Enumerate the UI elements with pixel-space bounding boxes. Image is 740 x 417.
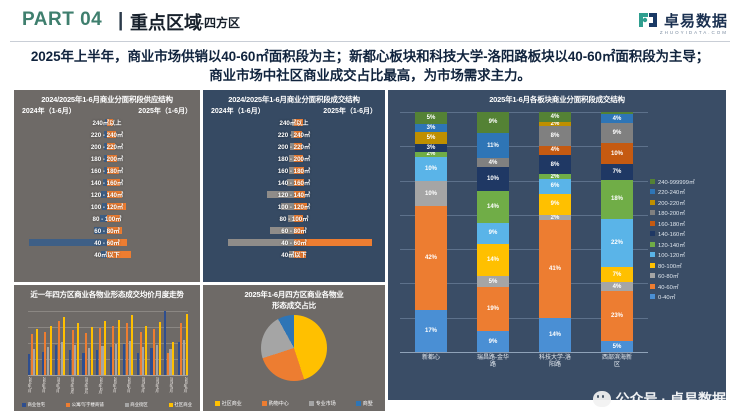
stacked-bar[interactable]: 5%23%4%7%22%18%7%10%9%4% [601,112,633,352]
legend-item[interactable]: 200-220㎡ [650,197,722,208]
butterfly-row: 180 - 200㎡ [14,152,200,164]
legend-swatch [650,263,655,268]
legend-item[interactable]: 40-60㎡ [650,281,722,292]
stacked-segment: 5% [415,112,447,124]
stacked-segment: 4% [477,158,509,167]
legend-label: 商墅 [363,400,373,407]
brand-logo: 卓易数据 [636,8,728,32]
legend-item[interactable]: 180-200㎡ [650,208,722,219]
butterfly-row: 80 - 100㎡ [203,212,385,224]
legend-swatch [125,403,129,407]
butterfly-row: 40 - 60㎡ [203,236,385,248]
x-axis-label: 2025年6月 [184,377,188,399]
x-axis-label: 2024年12月 [99,377,103,399]
butterfly-category-label: 80 - 100㎡ [280,214,309,223]
butterfly-category-label: 200 - 220㎡ [91,142,123,151]
column-bar [91,327,93,375]
stacked-segment: 11% [477,133,509,158]
legend-swatch [262,401,267,406]
part-label: PART 04 [22,9,102,31]
chart-panel-block-stacked: 2025年1-6月各板块商业分面积段成交结构 17%42%10%10%2%3%5… [388,90,726,400]
stacked-segment: 9% [477,112,509,133]
legend-label: 购物中心 [269,400,289,407]
legend-label: 专业市场 [316,400,336,407]
stacked-segment: 5% [601,341,633,352]
column-group[interactable] [178,311,188,375]
x-axis-label: 2024年7月 [28,377,32,399]
butterfly-category-label: 220 - 240㎡ [91,130,123,139]
legend-swatch [650,231,655,236]
stacked-segment: 10% [415,157,447,182]
legend-swatch [650,252,655,257]
legend-swatch [650,210,655,215]
chart-title-format-share: 2025年1-6月四方区商业各物业 形态成交占比 [203,285,385,311]
stacked-segment: 3% [415,144,447,151]
chart-panel-monthly-price: 近一年四方区商业各物业形态成交均价月度走势 2024年7月2024年8月2024… [14,285,200,411]
page-title: 重点区域 [130,9,202,35]
column-group[interactable] [137,311,147,375]
legend-swatch [650,179,655,184]
chart-legend-formats: 社区商业购物中心专业市场商墅 [205,400,383,407]
legend-swatch [650,294,655,299]
stacked-segment: 41% [539,220,571,318]
monthly-price-plot [28,311,188,375]
stacked-segment: 23% [601,291,633,341]
butterfly-category-label: 220 - 240㎡ [278,130,310,139]
butterfly-category-label: 200 - 220㎡ [278,142,310,151]
butterfly-row: 160 - 180㎡ [203,164,385,176]
stacked-bars: 17%42%10%10%2%3%5%3%5%9%19%5%14%9%14%10%… [400,112,648,352]
stacked-segment: 8% [539,155,571,174]
legend-label: 商业街区 [130,402,148,408]
butterfly-row: 240㎡以上 [203,116,385,128]
chart-panel-supply-structure: 2024/2025年1-6月商业分面积段供应结构 2024年（1-6月） 202… [14,90,200,282]
legend-swatch [169,403,173,407]
legend-swatch [22,403,26,407]
butterfly-row: 100 - 120㎡ [14,200,200,212]
stacked-segment: 9% [477,223,509,244]
butterfly-category-label: 160 - 180㎡ [91,166,123,175]
legend-item[interactable]: 社区商业 [215,400,242,407]
legend-swatch [650,221,655,226]
x-axis-label: 2025年5月 [170,377,174,399]
legend-label: 100-120㎡ [658,250,685,259]
x-axis-label: 瑞昌路-金华路 [477,355,509,399]
column-group[interactable] [42,311,52,375]
column-bar [118,320,120,375]
headline-line-2: 商业市场中社区商业成交占比最高，为市场需求主力。 [10,66,730,85]
butterfly-category-label: 140 - 160㎡ [278,178,310,187]
stacked-segment: 22% [601,219,633,267]
headline-line-1: 2025年上半年，商业市场供销以40-60㎡面积段为主；新都心板块和科技大学-洛… [10,47,730,66]
watermark-text: 公众号 · 卓易数据 [616,389,726,409]
legend-item[interactable]: 220-240㎡ [650,187,722,198]
column-bar [131,315,133,375]
legend-label: 0-40㎡ [658,292,675,301]
brand-logo-icon [636,8,660,32]
stacked-segment: 7% [601,267,633,282]
legend-label: 200-220㎡ [658,198,685,207]
legend-label: 160-180㎡ [658,219,685,228]
butterfly-category-label: 180 - 200㎡ [278,154,310,163]
legend-label: 80-100㎡ [658,261,682,270]
stacked-bar[interactable]: 17%42%10%10%2%3%5%3%5% [415,112,447,352]
stacked-segment: 10% [601,143,633,165]
x-axis-label: 2024年10月 [71,377,75,399]
stacked-segment: 14% [539,318,571,352]
brand-logo-url: ZHUOYIDATA.COM [660,30,728,35]
chart-title-block-stacked: 2025年1-6月各板块商业分面积段成交结构 [388,90,726,105]
pie-graphic [261,315,327,381]
stacked-segment: 10% [415,181,447,206]
legend-swatch [215,401,220,406]
header-divider: | [118,10,123,32]
page-subtitle: -四方区 [200,14,240,31]
butterfly-category-label: 240㎡以上 [93,118,122,127]
butterfly-row: 40㎡以下 [14,248,200,260]
stacked-segment: 18% [601,180,633,219]
legend-label: 商业住宅 [28,402,46,408]
butterfly-category-label: 60 - 80㎡ [94,226,119,235]
supply-series-label-2024: 2024年（1-6月） [22,106,76,116]
column-bar [77,323,79,375]
butterfly-row: 100 - 120㎡ [203,200,385,212]
legend-swatch [356,401,361,406]
stacked-bar[interactable]: 14%41%2%9%6%2%8%4%8%2%4% [539,112,571,352]
butterfly-category-label: 100 - 120㎡ [278,202,310,211]
legend-swatch [650,189,655,194]
stacked-segment: 3% [415,124,447,131]
pie-plot [203,315,385,387]
column-bar [186,314,188,375]
x-axis-label: 2024年9月 [56,377,60,399]
legend-label: 240-999999㎡ [658,177,695,186]
column-bar [172,342,174,375]
butterfly-row: 200 - 220㎡ [203,140,385,152]
x-axis-label: 新都心 [415,355,447,399]
legend-item[interactable]: 60-80㎡ [650,271,722,282]
headline-text: 2025年上半年，商业市场供销以40-60㎡面积段为主；新都心板块和科技大学-洛… [10,47,730,85]
butterfly-row: 160 - 180㎡ [14,164,200,176]
legend-label: 社区商业 [222,400,242,407]
legend-swatch [309,401,314,406]
butterfly-category-label: 40 - 60㎡ [94,238,119,247]
butterfly-category-label: 240㎡以上 [280,118,309,127]
chart-panel-format-share: 2025年1-6月四方区商业各物业 形态成交占比 社区商业购物中心专业市场商墅 [203,285,385,411]
legend-item[interactable]: 专业市场 [309,400,336,407]
legend-item[interactable]: 140-160㎡ [650,229,722,240]
legend-swatch [650,273,655,278]
legend-label: 140-160㎡ [658,229,685,238]
chart-panel-deal-structure: 2024/2025年1-6月商业分面积段成交结构 2024年（1-6月） 202… [203,90,385,282]
brand-logo-text: 卓易数据 [664,10,728,31]
stacked-segment: 9% [601,123,633,143]
butterfly-category-label: 160 - 180㎡ [278,166,310,175]
page-header: PART 04 | 重点区域 -四方区 卓易数据 ZHUOYIDATA.COM [0,0,740,44]
stacked-segment: 4% [539,146,571,156]
butterfly-row: 140 - 160㎡ [203,176,385,188]
butterfly-category-label: 40㎡以下 [281,250,306,259]
butterfly-row: 80 - 100㎡ [14,212,200,224]
column-group[interactable] [55,311,65,375]
x-axis-labels: 2024年7月2024年8月2024年9月2024年10月2024年11月202… [28,377,188,399]
legend-swatch [66,403,70,407]
butterfly-row: 60 - 80㎡ [14,224,200,236]
butterfly-category-label: 80 - 100㎡ [93,214,122,223]
pie-title-line-2: 形态成交占比 [272,301,316,310]
stacked-segment: 7% [601,164,633,179]
legend-label: 公寓/写字楼商铺 [72,402,104,408]
butterfly-row: 60 - 80㎡ [203,224,385,236]
column-group[interactable] [110,311,120,375]
legend-swatch [650,200,655,205]
legend-label: 220-240㎡ [658,187,685,196]
wechat-watermark: 公众号 · 卓易数据 [593,389,726,409]
x-axis-label: 科技大学-洛阳路 [539,355,571,399]
butterfly-category-label: 40 - 60㎡ [281,238,306,247]
deal-butterfly-plot: 240㎡以上220 - 240㎡200 - 220㎡180 - 200㎡160 … [203,116,385,280]
stacked-bar[interactable]: 9%19%5%14%9%14%10%4%11%9% [477,112,509,352]
legend-item[interactable]: 商业住宅 [22,402,45,408]
column-group[interactable] [96,311,106,375]
stacked-segment: 9% [477,331,509,352]
butterfly-row: 240㎡以上 [14,116,200,128]
column-group[interactable] [28,311,38,375]
stacked-bar-plot: 17%42%10%10%2%3%5%3%5%9%19%5%14%9%14%10%… [400,112,648,352]
butterfly-row: 180 - 200㎡ [203,152,385,164]
stacked-segment: 8% [539,126,571,145]
legend-item[interactable]: 公寓/写字楼商铺 [66,402,103,408]
stacked-segment: 14% [477,191,509,223]
butterfly-row: 200 - 220㎡ [14,140,200,152]
stacked-segment: 4% [601,114,633,123]
x-axis-line [400,352,648,353]
butterfly-category-label: 120 - 140㎡ [91,190,123,199]
butterfly-category-label: 140 - 160㎡ [91,178,123,187]
legend-item[interactable]: 商业街区 [125,402,148,408]
x-axis-line [28,375,188,376]
column-group[interactable] [82,311,92,375]
butterfly-row: 140 - 160㎡ [14,176,200,188]
column-group[interactable] [150,311,160,375]
legend-item[interactable]: 160-180㎡ [650,218,722,229]
butterfly-row: 120 - 140㎡ [14,188,200,200]
wechat-icon [593,391,611,407]
header-divider-rule [10,41,730,42]
column-bar [104,321,106,375]
column-group[interactable] [164,311,174,375]
legend-item[interactable]: 240-999999㎡ [650,176,722,187]
butterfly-row: 220 - 240㎡ [203,128,385,140]
chart-title-supply: 2024/2025年1-6月商业分面积段供应结构 [14,90,200,105]
legend-item[interactable]: 0-40㎡ [650,292,722,303]
column-bar [50,326,52,375]
butterfly-row: 40 - 60㎡ [14,236,200,248]
butterfly-row: 120 - 140㎡ [203,188,385,200]
stacked-segment: 42% [415,206,447,310]
legend-label: 180-200㎡ [658,208,685,217]
butterfly-category-label: 180 - 200㎡ [91,154,123,163]
butterfly-category-label: 60 - 80㎡ [281,226,306,235]
butterfly-category-label: 40㎡以下 [94,250,119,259]
butterfly-row: 220 - 240㎡ [14,128,200,140]
x-axis-label: 2025年4月 [156,377,160,399]
x-axis-label: 2025年1月 [113,377,117,399]
stacked-segment: 5% [415,132,447,144]
stacked-segment: 6% [539,179,571,193]
supply-butterfly-plot: 240㎡以上220 - 240㎡200 - 220㎡180 - 200㎡160 … [14,116,200,280]
legend-swatch [650,284,655,289]
legend-label: 60-80㎡ [658,271,679,280]
column-bar [159,322,161,375]
stacked-segment: 10% [477,167,509,190]
x-axis-label: 2024年11月 [85,377,89,399]
deal-series-label-2025: 2025年（1-6月） [323,106,377,116]
column-group[interactable] [123,311,133,375]
stacked-segment: 14% [477,244,509,276]
stacked-segment: 4% [539,112,571,122]
x-axis-label: 2025年3月 [141,377,145,399]
legend-item[interactable]: 80-100㎡ [650,260,722,271]
butterfly-category-label: 100 - 120㎡ [91,202,123,211]
legend-label: 40-60㎡ [658,282,679,291]
legend-item[interactable]: 100-120㎡ [650,250,722,261]
monthly-column-groups [28,311,188,375]
chart-title-deal: 2024/2025年1-6月商业分面积段成交结构 [203,90,385,105]
stacked-segment: 9% [539,194,571,216]
supply-series-label-2025: 2025年（1-6月） [138,106,192,116]
x-axis-label: 2025年2月 [127,377,131,399]
legend-item[interactable]: 社区商业 [169,402,192,408]
legend-label: 120-140㎡ [658,240,685,249]
deal-series-label-2024: 2024年（1-6月） [211,106,265,116]
legend-item[interactable]: 购物中心 [262,400,289,407]
stacked-segment: 17% [415,310,447,352]
pie-title-line-1: 2025年1-6月四方区商业各物业 [244,290,343,299]
stacked-segment: 19% [477,287,509,331]
legend-item[interactable]: 商墅 [356,400,373,407]
chart-legend-property-types: 商业住宅公寓/写字楼商铺商业街区社区商业 [22,402,192,408]
legend-item[interactable]: 120-140㎡ [650,239,722,250]
chart-title-monthly-price: 近一年四方区商业各物业形态成交均价月度走势 [14,285,200,300]
x-axis-label: 2024年8月 [42,377,46,399]
column-bar [36,329,38,375]
butterfly-row: 40㎡以下 [203,248,385,260]
legend-swatch [650,242,655,247]
chart-legend-area-bands: 240-999999㎡220-240㎡200-220㎡180-200㎡160-1… [650,176,722,302]
column-bar [63,317,65,375]
legend-label: 社区商业 [174,402,192,408]
stacked-segment: 5% [477,276,509,288]
butterfly-category-label: 120 - 140㎡ [278,190,310,199]
column-group[interactable] [69,311,79,375]
stacked-segment: 4% [601,282,633,291]
column-bar [145,326,147,375]
